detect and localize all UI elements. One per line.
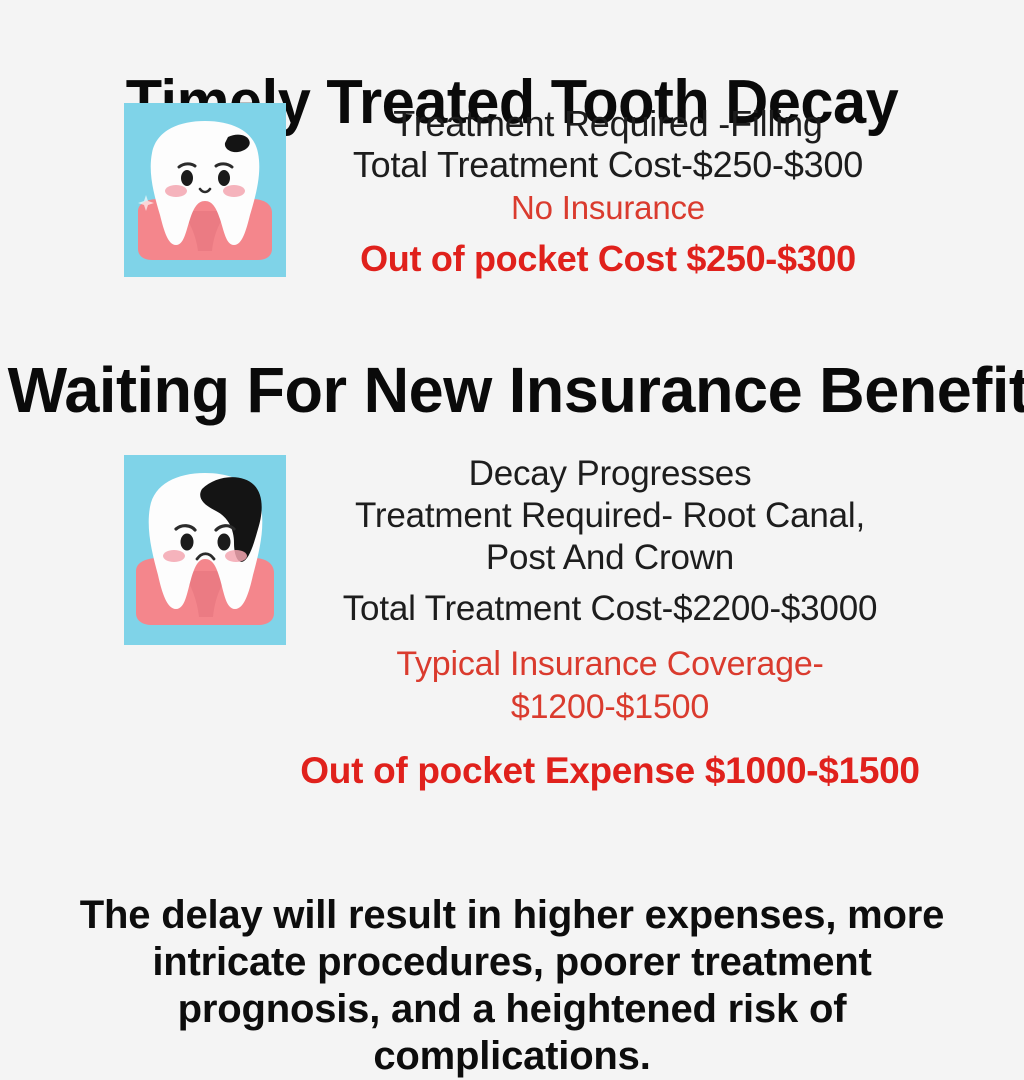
insurance-status-line: No Insurance: [288, 185, 928, 230]
footer-note: The delay will result in higher expenses…: [62, 892, 962, 1080]
section-waiting-for-benefits: Decay Progresses Treatment Required- Roo…: [0, 455, 1024, 650]
treatment-required-line-2: Treatment Required- Root Canal,: [286, 495, 934, 537]
treatment-required-line: Treatment Required -Filling: [288, 103, 928, 144]
out-of-pocket-line: Out of pocket Cost $250-$300: [288, 234, 928, 284]
info-block-timely: Treatment Required -Filling Total Treatm…: [288, 103, 928, 284]
out-of-pocket-line-2: Out of pocket Expense $1000-$1500: [286, 747, 934, 795]
infographic-page: Timely Treated Tooth Decay: [0, 0, 1024, 1024]
info-block-waiting: Decay Progresses Treatment Required- Roo…: [286, 453, 934, 795]
cartoon-tooth-large-decay-image: [124, 455, 286, 645]
decay-progresses-line: Decay Progresses: [286, 453, 934, 495]
insurance-coverage-line: Typical Insurance Coverage- $1200-$1500: [286, 643, 934, 729]
tooth-illustration-2: [124, 455, 286, 645]
section-timely-treated: Treatment Required -Filling Total Treatm…: [0, 103, 1024, 283]
total-cost-line-2: Total Treatment Cost-$2200-$3000: [286, 588, 934, 630]
cartoon-tooth-small-cavity-image: [124, 103, 286, 277]
headline-waiting-for-benefits: Waiting For New Insurance Benefits: [8, 353, 1017, 427]
tooth-illustration-1: [124, 103, 286, 277]
treatment-required-line-3: Post And Crown: [286, 537, 934, 579]
total-cost-line: Total Treatment Cost-$250-$300: [288, 144, 928, 185]
